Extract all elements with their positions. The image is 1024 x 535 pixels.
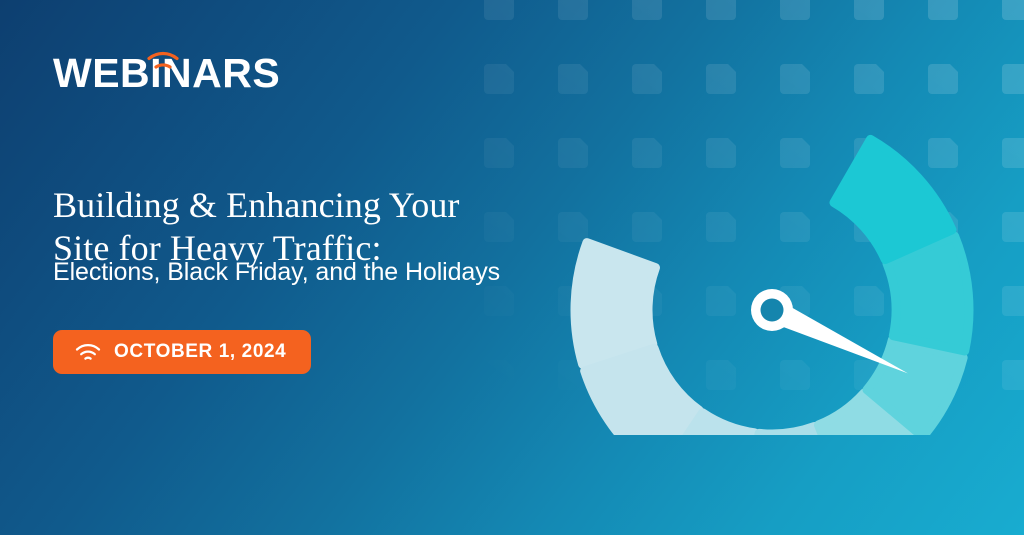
date-badge-label: OCTOBER 1, 2024 [114,341,286,363]
webinars-logo: WEBINARS [53,50,353,96]
title-line-1: Building & Enhancing Your [53,184,553,227]
logo-wordmark: WEBINARS [53,50,353,96]
speedometer-gauge [560,105,990,435]
gauge-segment-2 [585,348,699,435]
wifi-signal-icon [75,342,101,362]
text-column: WEBINARS Building & Enhancing Your Site … [53,0,573,535]
page-subtitle: Elections, Black Friday, and the Holiday… [53,256,573,289]
webinar-banner: WEBINARS Building & Enhancing Your Site … [0,0,1024,535]
gauge-needle [751,289,908,373]
gauge-segment-8 [834,139,952,259]
date-badge[interactable]: OCTOBER 1, 2024 [53,330,311,374]
gauge-segments [575,139,969,435]
logo-text: WEBINARS [53,50,280,96]
gauge-segment-1 [575,243,655,365]
